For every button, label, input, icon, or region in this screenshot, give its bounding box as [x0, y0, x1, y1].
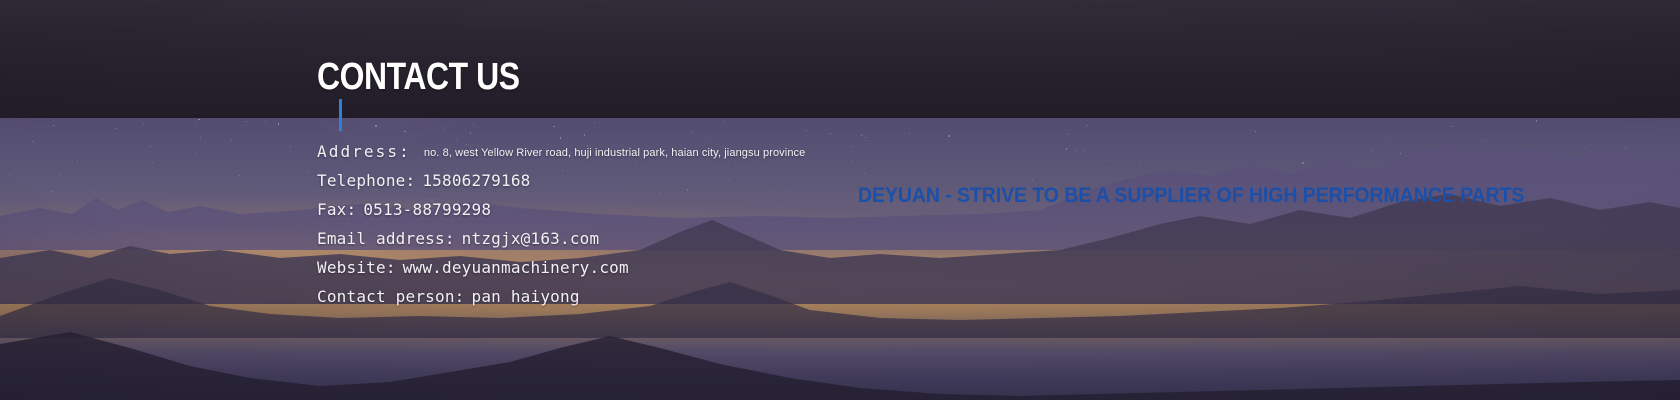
contact-value: pan haiyong	[472, 287, 580, 306]
banner-content: CONTACT US Address:no. 8, west Yellow Ri…	[0, 0, 1680, 400]
contact-value: www.deyuanmachinery.com	[403, 258, 629, 277]
contact-value: 0513-88799298	[363, 200, 491, 219]
contact-label: Fax:	[317, 200, 356, 219]
contact-label: Email address:	[317, 229, 455, 248]
contact-details-list: Address:no. 8, west Yellow River road, h…	[317, 142, 1077, 316]
contact-value: no. 8, west Yellow River road, huji indu…	[424, 147, 805, 159]
contact-label: Website:	[317, 258, 396, 277]
contact-value: ntzgjx@163.com	[462, 229, 600, 248]
contact-row: Address:no. 8, west Yellow River road, h…	[317, 142, 1077, 171]
contact-label: Telephone:	[317, 171, 415, 190]
page-title: CONTACT US	[317, 58, 520, 96]
contact-label: Contact person:	[317, 287, 465, 306]
contact-row: Contact person:pan haiyong	[317, 287, 1077, 316]
contact-row: Email address:ntzgjx@163.com	[317, 229, 1077, 258]
accent-bar	[339, 99, 342, 131]
contact-value: 15806279168	[422, 171, 530, 190]
contact-label: Address:	[317, 142, 411, 161]
contact-row: Website:www.deyuanmachinery.com	[317, 258, 1077, 287]
contact-us-banner: CONTACT US Address:no. 8, west Yellow Ri…	[0, 0, 1680, 400]
company-tagline: DEYUAN - STRIVE TO BE A SUPPLIER OF HIGH…	[858, 184, 1524, 208]
